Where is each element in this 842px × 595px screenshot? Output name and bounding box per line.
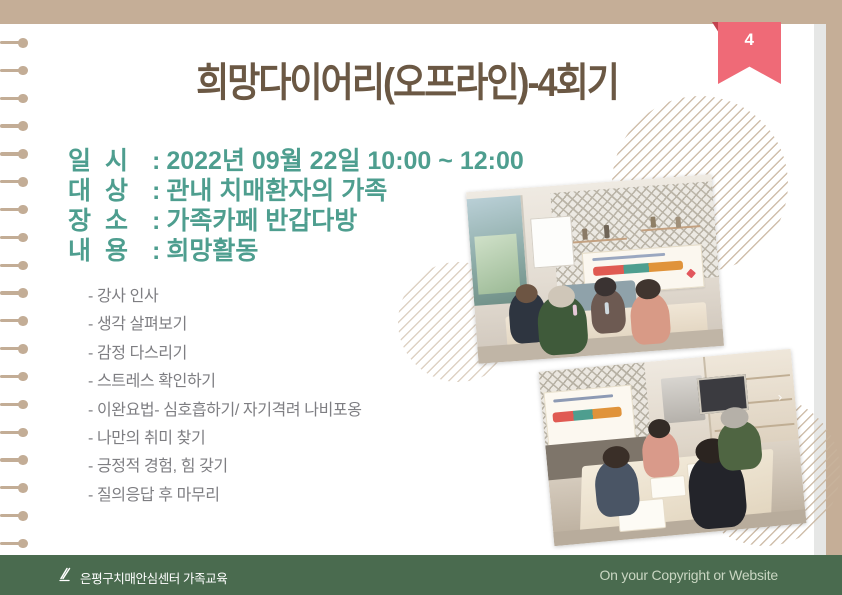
list-item: - 스트레스 확인하기 <box>88 368 362 396</box>
footer-organization-label: 은평구치매안심센터 가족교육 <box>80 568 227 587</box>
info-separator: : <box>152 176 160 206</box>
list-item: - 나만의 취미 찾기 <box>88 425 362 453</box>
info-row-datetime: 일시 : 2022년 09월 22일 10:00 ~ 12:00 <box>68 146 524 176</box>
footer-copyright-label: On your Copyright or Website <box>599 567 778 583</box>
binder-ring <box>0 539 38 548</box>
binder-ring <box>0 121 38 130</box>
info-value-audience: 관내 치매환자의 가족 <box>166 176 387 206</box>
info-value-datetime: 2022년 09월 22일 10:00 ~ 12:00 <box>166 146 523 176</box>
binder-ring <box>0 455 38 464</box>
list-item: - 질의응답 후 마무리 <box>88 482 362 510</box>
info-separator: : <box>152 206 160 236</box>
info-row-audience: 대상 : 관내 치매환자의 가족 <box>68 176 524 206</box>
binder-ring <box>0 205 38 214</box>
list-item: - 긍정적 경험, 힘 갖기 <box>88 453 362 481</box>
footer-bar: 은평구치매안심센터 가족교육 On your Copyright or Webs… <box>0 555 842 595</box>
list-item: - 생각 살펴보기 <box>88 311 362 339</box>
binder-rings <box>0 38 50 548</box>
info-label-datetime: 일시 <box>68 146 152 176</box>
bullet-list: - 강사 인사 - 생각 살펴보기 - 감정 다스리기 - 스트레스 확인하기 … <box>88 283 362 510</box>
info-separator: : <box>152 236 160 266</box>
list-item: - 이완요법- 심호흡하기/ 자기격려 나비포옹 <box>88 397 362 425</box>
binder-ring <box>0 428 38 437</box>
info-row-place: 장소 : 가족카페 반갑다방 <box>68 206 524 236</box>
info-row-content: 내용 : 희망활동 <box>68 236 524 266</box>
activity-photo-1 <box>466 174 724 364</box>
info-value-place: 가족카페 반갑다방 <box>166 206 357 236</box>
info-label-content: 내용 <box>68 236 152 266</box>
binder-ring <box>0 261 38 270</box>
binder-ring <box>0 233 38 242</box>
binder-ring <box>0 483 38 492</box>
binder-ring <box>0 372 38 381</box>
binder-ring <box>0 94 38 103</box>
binder-ring <box>0 177 38 186</box>
pencil-logo-icon <box>58 567 74 583</box>
activity-photo-2: › <box>539 349 807 546</box>
binder-ring <box>0 288 38 297</box>
binder-ring <box>0 400 38 409</box>
info-label-audience: 대상 <box>68 176 152 206</box>
info-block: 일시 : 2022년 09월 22일 10:00 ~ 12:00 대상 : 관내… <box>68 146 524 266</box>
binder-ring <box>0 344 38 353</box>
binder-ring <box>0 38 38 47</box>
page-title: 희망다이어리(오프라인)-4회기 <box>41 50 774 108</box>
binder-ring <box>0 66 38 75</box>
info-label-place: 장소 <box>68 206 152 236</box>
binder-ring <box>0 316 38 325</box>
page-number: 4 <box>718 30 781 50</box>
list-item: - 강사 인사 <box>88 283 362 311</box>
list-item: - 감정 다스리기 <box>88 340 362 368</box>
info-value-content: 희망활동 <box>166 236 258 266</box>
slide-canvas: 4 희망다이어리(오프라인)-4회기 일시 : 2022년 09월 22일 10… <box>0 0 842 595</box>
binder-ring <box>0 511 38 520</box>
binder-ring <box>0 149 38 158</box>
info-separator: : <box>152 146 160 176</box>
